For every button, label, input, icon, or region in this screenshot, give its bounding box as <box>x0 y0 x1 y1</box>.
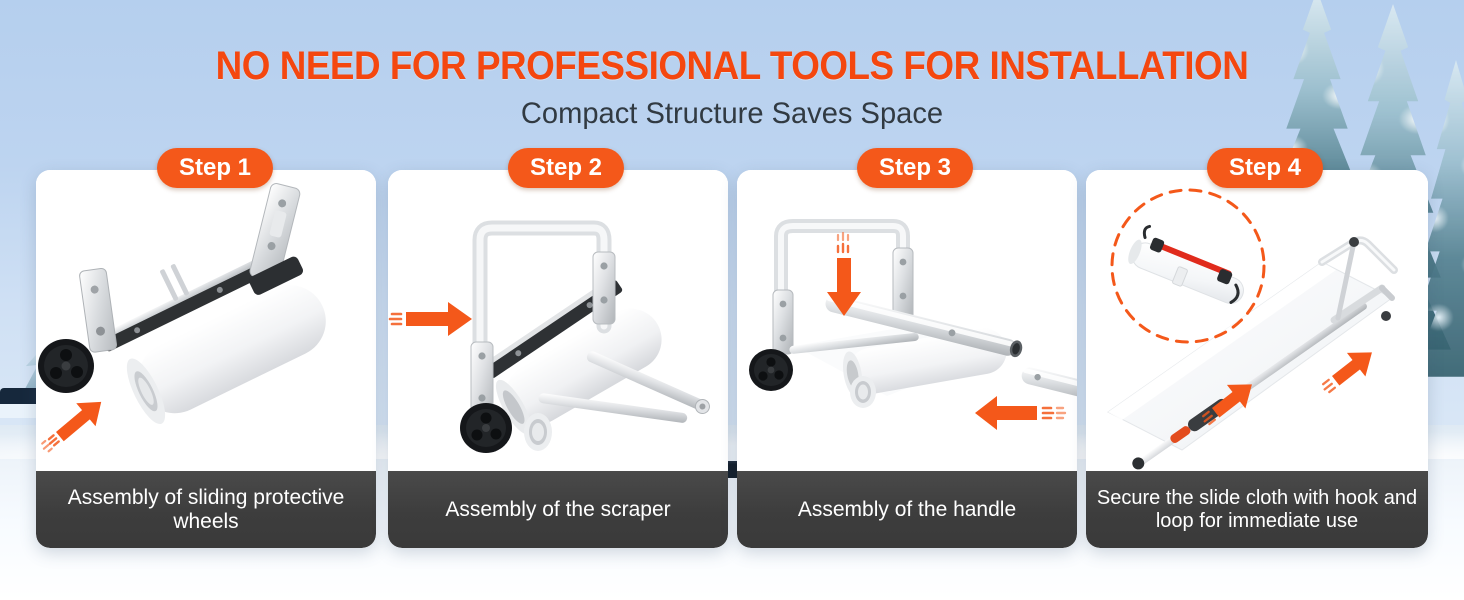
step-card-1[interactable]: Assembly of sliding protective wheels <box>36 170 376 548</box>
step-4-caption: Secure the slide cloth with hook and loo… <box>1086 471 1428 548</box>
step-1-caption-text: Assembly of sliding protective wheels <box>48 486 364 534</box>
step-2-image <box>388 170 728 471</box>
step-1-badge-label: Step 1 <box>179 154 251 182</box>
scraper-frame-assembly-illustration <box>388 170 728 471</box>
step-1-image <box>36 170 376 471</box>
step-2-caption: Assembly of the scraper <box>388 471 728 548</box>
page-subtitle: Compact Structure Saves Space <box>22 97 1442 131</box>
step-3-caption: Assembly of the handle <box>737 471 1077 548</box>
step-2-badge-label: Step 2 <box>530 154 602 182</box>
handle-pole-insertion-illustration <box>737 170 1077 471</box>
step-1-badge: Step 1 <box>157 148 273 188</box>
step-3-caption-text: Assembly of the handle <box>798 498 1016 522</box>
step-1-caption: Assembly of sliding protective wheels <box>36 471 376 548</box>
step-4-badge: Step 4 <box>1207 148 1323 188</box>
step-card-4[interactable]: Secure the slide cloth with hook and loo… <box>1086 170 1428 548</box>
step-4-image <box>1086 170 1428 471</box>
step-card-2[interactable]: Assembly of the scraper <box>388 170 728 548</box>
page-title: NO NEED FOR PROFESSIONAL TOOLS FOR INSTA… <box>59 44 1406 89</box>
step-card-3[interactable]: Assembly of the handle <box>737 170 1077 548</box>
steps-row: Assembly of sliding protective wheels St… <box>0 170 1464 550</box>
snow-roller-with-wheel-bracket-illustration <box>36 170 376 471</box>
step-3-badge-label: Step 3 <box>879 154 951 182</box>
slide-cloth-hook-and-loop-illustration <box>1086 170 1428 471</box>
step-2-caption-text: Assembly of the scraper <box>445 498 670 522</box>
step-4-badge-label: Step 4 <box>1229 154 1301 182</box>
step-3-image <box>737 170 1077 471</box>
step-2-badge: Step 2 <box>508 148 624 188</box>
step-3-badge: Step 3 <box>857 148 973 188</box>
step-4-caption-text: Secure the slide cloth with hook and loo… <box>1092 487 1422 533</box>
